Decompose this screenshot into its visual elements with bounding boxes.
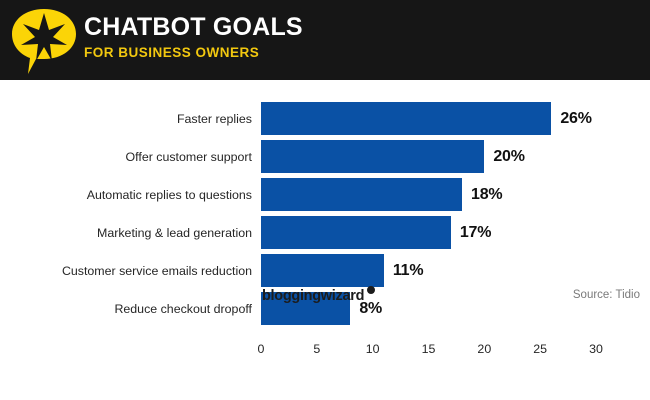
source-note: Source: Tidio bbox=[573, 289, 640, 301]
bar-row: Customer service emails reduction11% bbox=[0, 252, 650, 290]
bar-row: Marketing & lead generation17% bbox=[0, 214, 650, 252]
bloggingwizard-logo: bloggingwizard bbox=[262, 288, 364, 304]
bar[interactable] bbox=[261, 254, 384, 287]
x-axis-tick-label: 15 bbox=[422, 342, 436, 356]
x-axis: 051015202530 bbox=[0, 342, 650, 366]
x-axis-tick-label: 30 bbox=[589, 342, 603, 356]
x-axis-tick-label: 20 bbox=[477, 342, 491, 356]
bar-category-label: Marketing & lead generation bbox=[0, 226, 252, 241]
bar-row: Faster replies26% bbox=[0, 100, 650, 138]
bar[interactable] bbox=[261, 178, 462, 211]
footer: bloggingwizard Source: Tidio bbox=[0, 288, 650, 320]
bar-row: Offer customer support20% bbox=[0, 138, 650, 176]
speech-bubble-star-icon bbox=[8, 4, 80, 76]
bar-row: Automatic replies to questions18% bbox=[0, 176, 650, 214]
bar-track bbox=[261, 140, 484, 173]
page-title: CHATBOT GOALS bbox=[84, 12, 624, 42]
header-banner: CHATBOT GOALS FOR BUSINESS OWNERS bbox=[0, 0, 650, 80]
bar[interactable] bbox=[261, 216, 451, 249]
bar-value-label: 18% bbox=[471, 186, 502, 204]
x-axis-tick-label: 0 bbox=[258, 342, 265, 356]
bar-category-label: Customer service emails reduction bbox=[0, 264, 252, 279]
bar-value-label: 11% bbox=[393, 262, 424, 280]
bar-value-label: 17% bbox=[460, 224, 491, 242]
bar-category-label: Automatic replies to questions bbox=[0, 188, 252, 203]
x-axis-tick-label: 25 bbox=[533, 342, 547, 356]
bar-track bbox=[261, 254, 384, 287]
x-axis-tick-label: 5 bbox=[313, 342, 320, 356]
dot-badge-icon bbox=[367, 286, 375, 294]
bar-track bbox=[261, 216, 451, 249]
bar-value-label: 20% bbox=[493, 148, 524, 166]
bar-track bbox=[261, 178, 462, 211]
bar-category-label: Offer customer support bbox=[0, 150, 252, 165]
x-axis-tick-label: 10 bbox=[366, 342, 380, 356]
infographic-chart-page: CHATBOT GOALS FOR BUSINESS OWNERS Faster… bbox=[0, 0, 650, 400]
bar[interactable] bbox=[261, 102, 551, 135]
bar-value-label: 26% bbox=[560, 110, 591, 128]
bar-track bbox=[261, 102, 551, 135]
bar[interactable] bbox=[261, 140, 484, 173]
page-subtitle: FOR BUSINESS OWNERS bbox=[84, 44, 624, 62]
bar-category-label: Faster replies bbox=[0, 112, 252, 127]
bar-chart: Faster replies26%Offer customer support2… bbox=[0, 80, 650, 400]
header-text-block: CHATBOT GOALS FOR BUSINESS OWNERS bbox=[84, 12, 624, 62]
